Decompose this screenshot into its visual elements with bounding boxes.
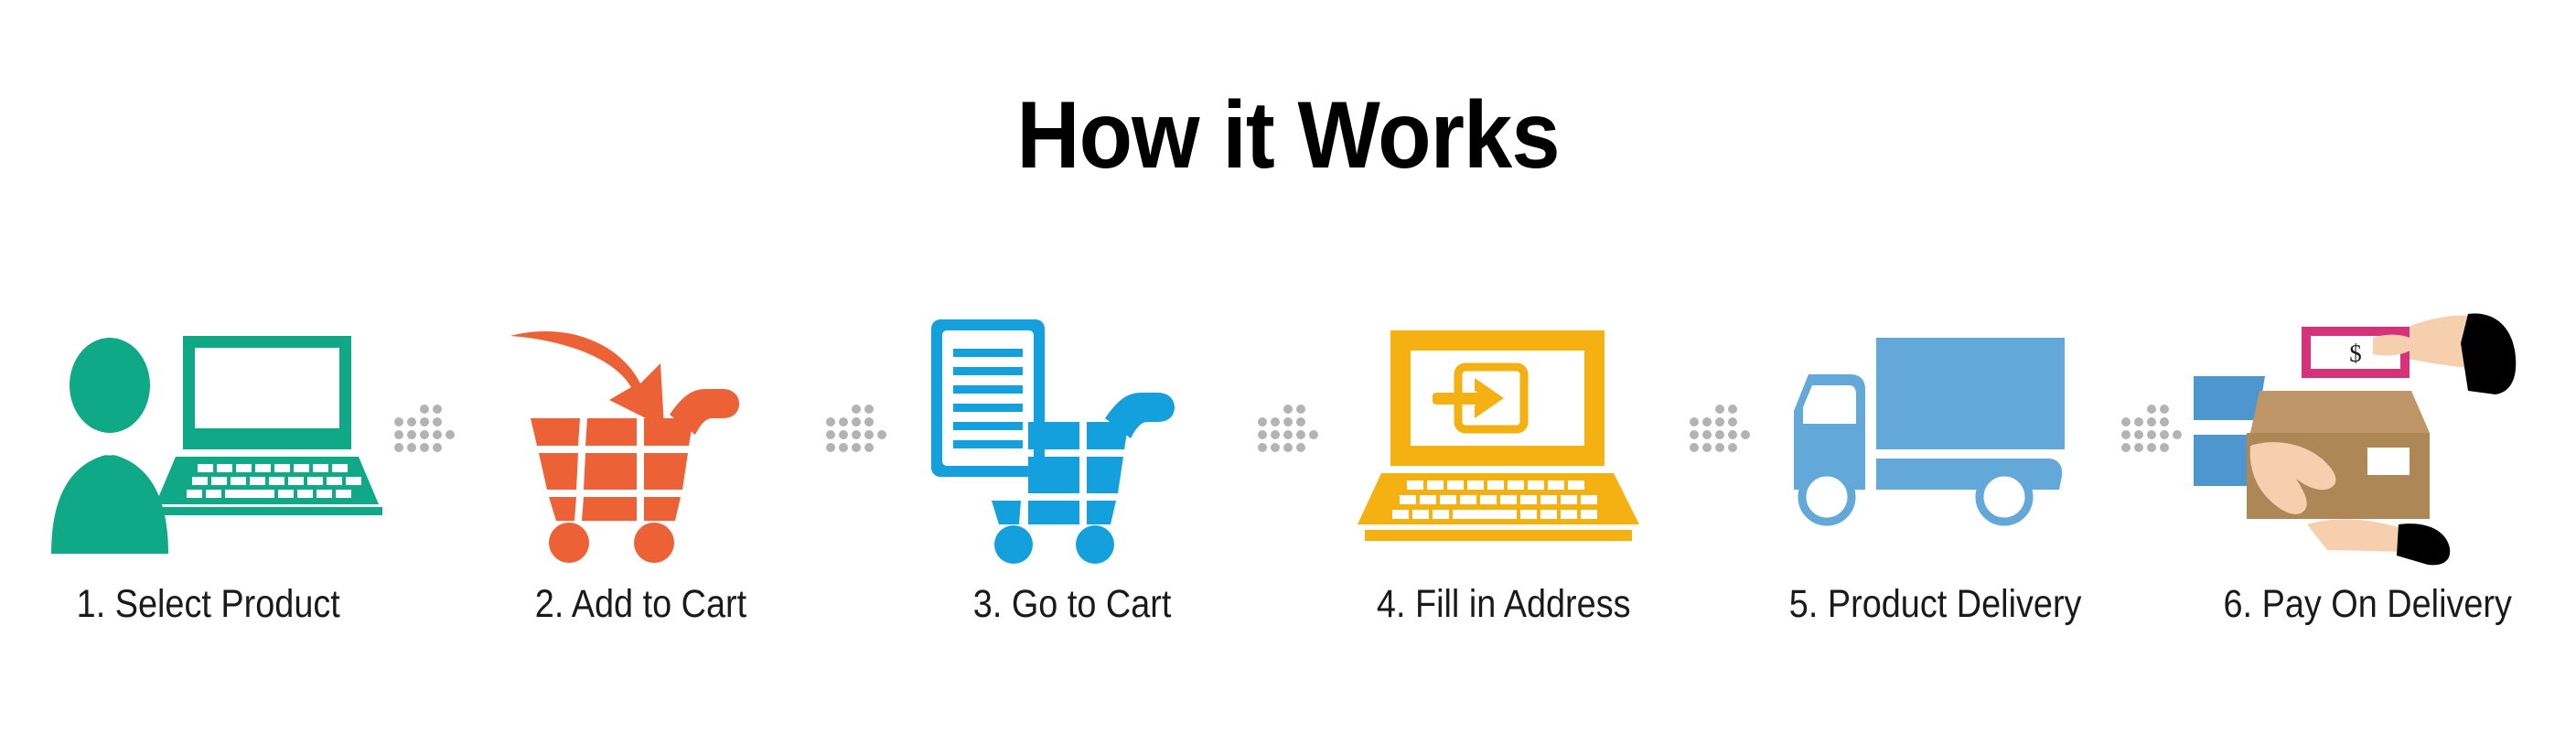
steps-row: 1. Select Product	[0, 302, 2576, 686]
person-with-laptop-icon	[26, 302, 392, 577]
dotted-arrow-right-icon	[2119, 302, 2184, 686]
step-6-label: 6. Pay On Delivery	[2223, 582, 2511, 626]
step-4-label: 4. Fill in Address	[1377, 582, 1631, 626]
how-it-works-infographic: How it Works	[0, 0, 2576, 745]
step-3-label: 3. Go to Cart	[973, 582, 1172, 626]
delivery-truck-icon	[1753, 302, 2119, 577]
dotted-arrow-right-icon	[1687, 302, 1753, 686]
step-4-fill-in-address[interactable]: 4. Fill in Address	[1321, 302, 1687, 686]
step-2-add-to-cart[interactable]: 2. Add to Cart	[457, 302, 823, 686]
document-list-with-cart-icon	[889, 302, 1255, 577]
dotted-arrow-right-icon	[392, 302, 457, 686]
dotted-arrow-right-icon	[823, 302, 889, 686]
shopping-cart-with-arrow-icon	[457, 302, 823, 577]
laptop-with-login-arrow-icon	[1321, 302, 1687, 577]
step-2-label: 2. Add to Cart	[534, 582, 746, 626]
step-5-product-delivery[interactable]: 5. Product Delivery	[1753, 302, 2119, 686]
dotted-arrow-right-icon	[1255, 302, 1321, 686]
step-1-select-product[interactable]: 1. Select Product	[26, 302, 392, 686]
hands-exchanging-box-and-money-icon: $	[2184, 302, 2550, 577]
page-title: How it Works	[103, 88, 2474, 183]
step-6-pay-on-delivery[interactable]: $	[2184, 302, 2550, 686]
step-1-label: 1. Select Product	[77, 582, 340, 626]
banknote-dollar-symbol: $	[2349, 340, 2362, 367]
step-5-label: 5. Product Delivery	[1789, 582, 2082, 626]
step-3-go-to-cart[interactable]: 3. Go to Cart	[889, 302, 1255, 686]
